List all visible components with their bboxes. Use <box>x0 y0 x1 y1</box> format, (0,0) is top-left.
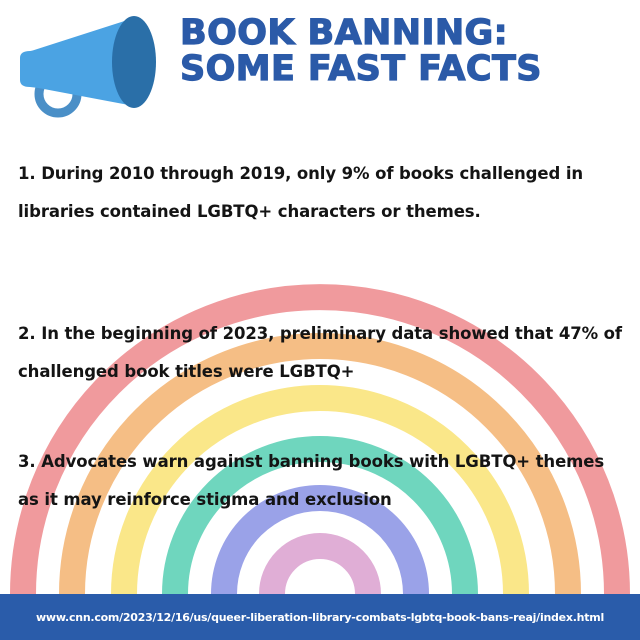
infographic-poster: BOOK BANNING: SOME FAST FACTS 1. During … <box>0 0 640 640</box>
fact-item-3: 3. Advocates warn against banning books … <box>18 443 628 519</box>
source-url: www.cnn.com/2023/12/16/us/queer-liberati… <box>36 611 604 624</box>
source-footer-bar: www.cnn.com/2023/12/16/us/queer-liberati… <box>0 594 640 640</box>
facts-list: 1. During 2010 through 2019, only 9% of … <box>0 0 640 594</box>
fact-item-2: 2. In the beginning of 2023, preliminary… <box>18 315 628 391</box>
fact-item-1: 1. During 2010 through 2019, only 9% of … <box>18 155 628 231</box>
